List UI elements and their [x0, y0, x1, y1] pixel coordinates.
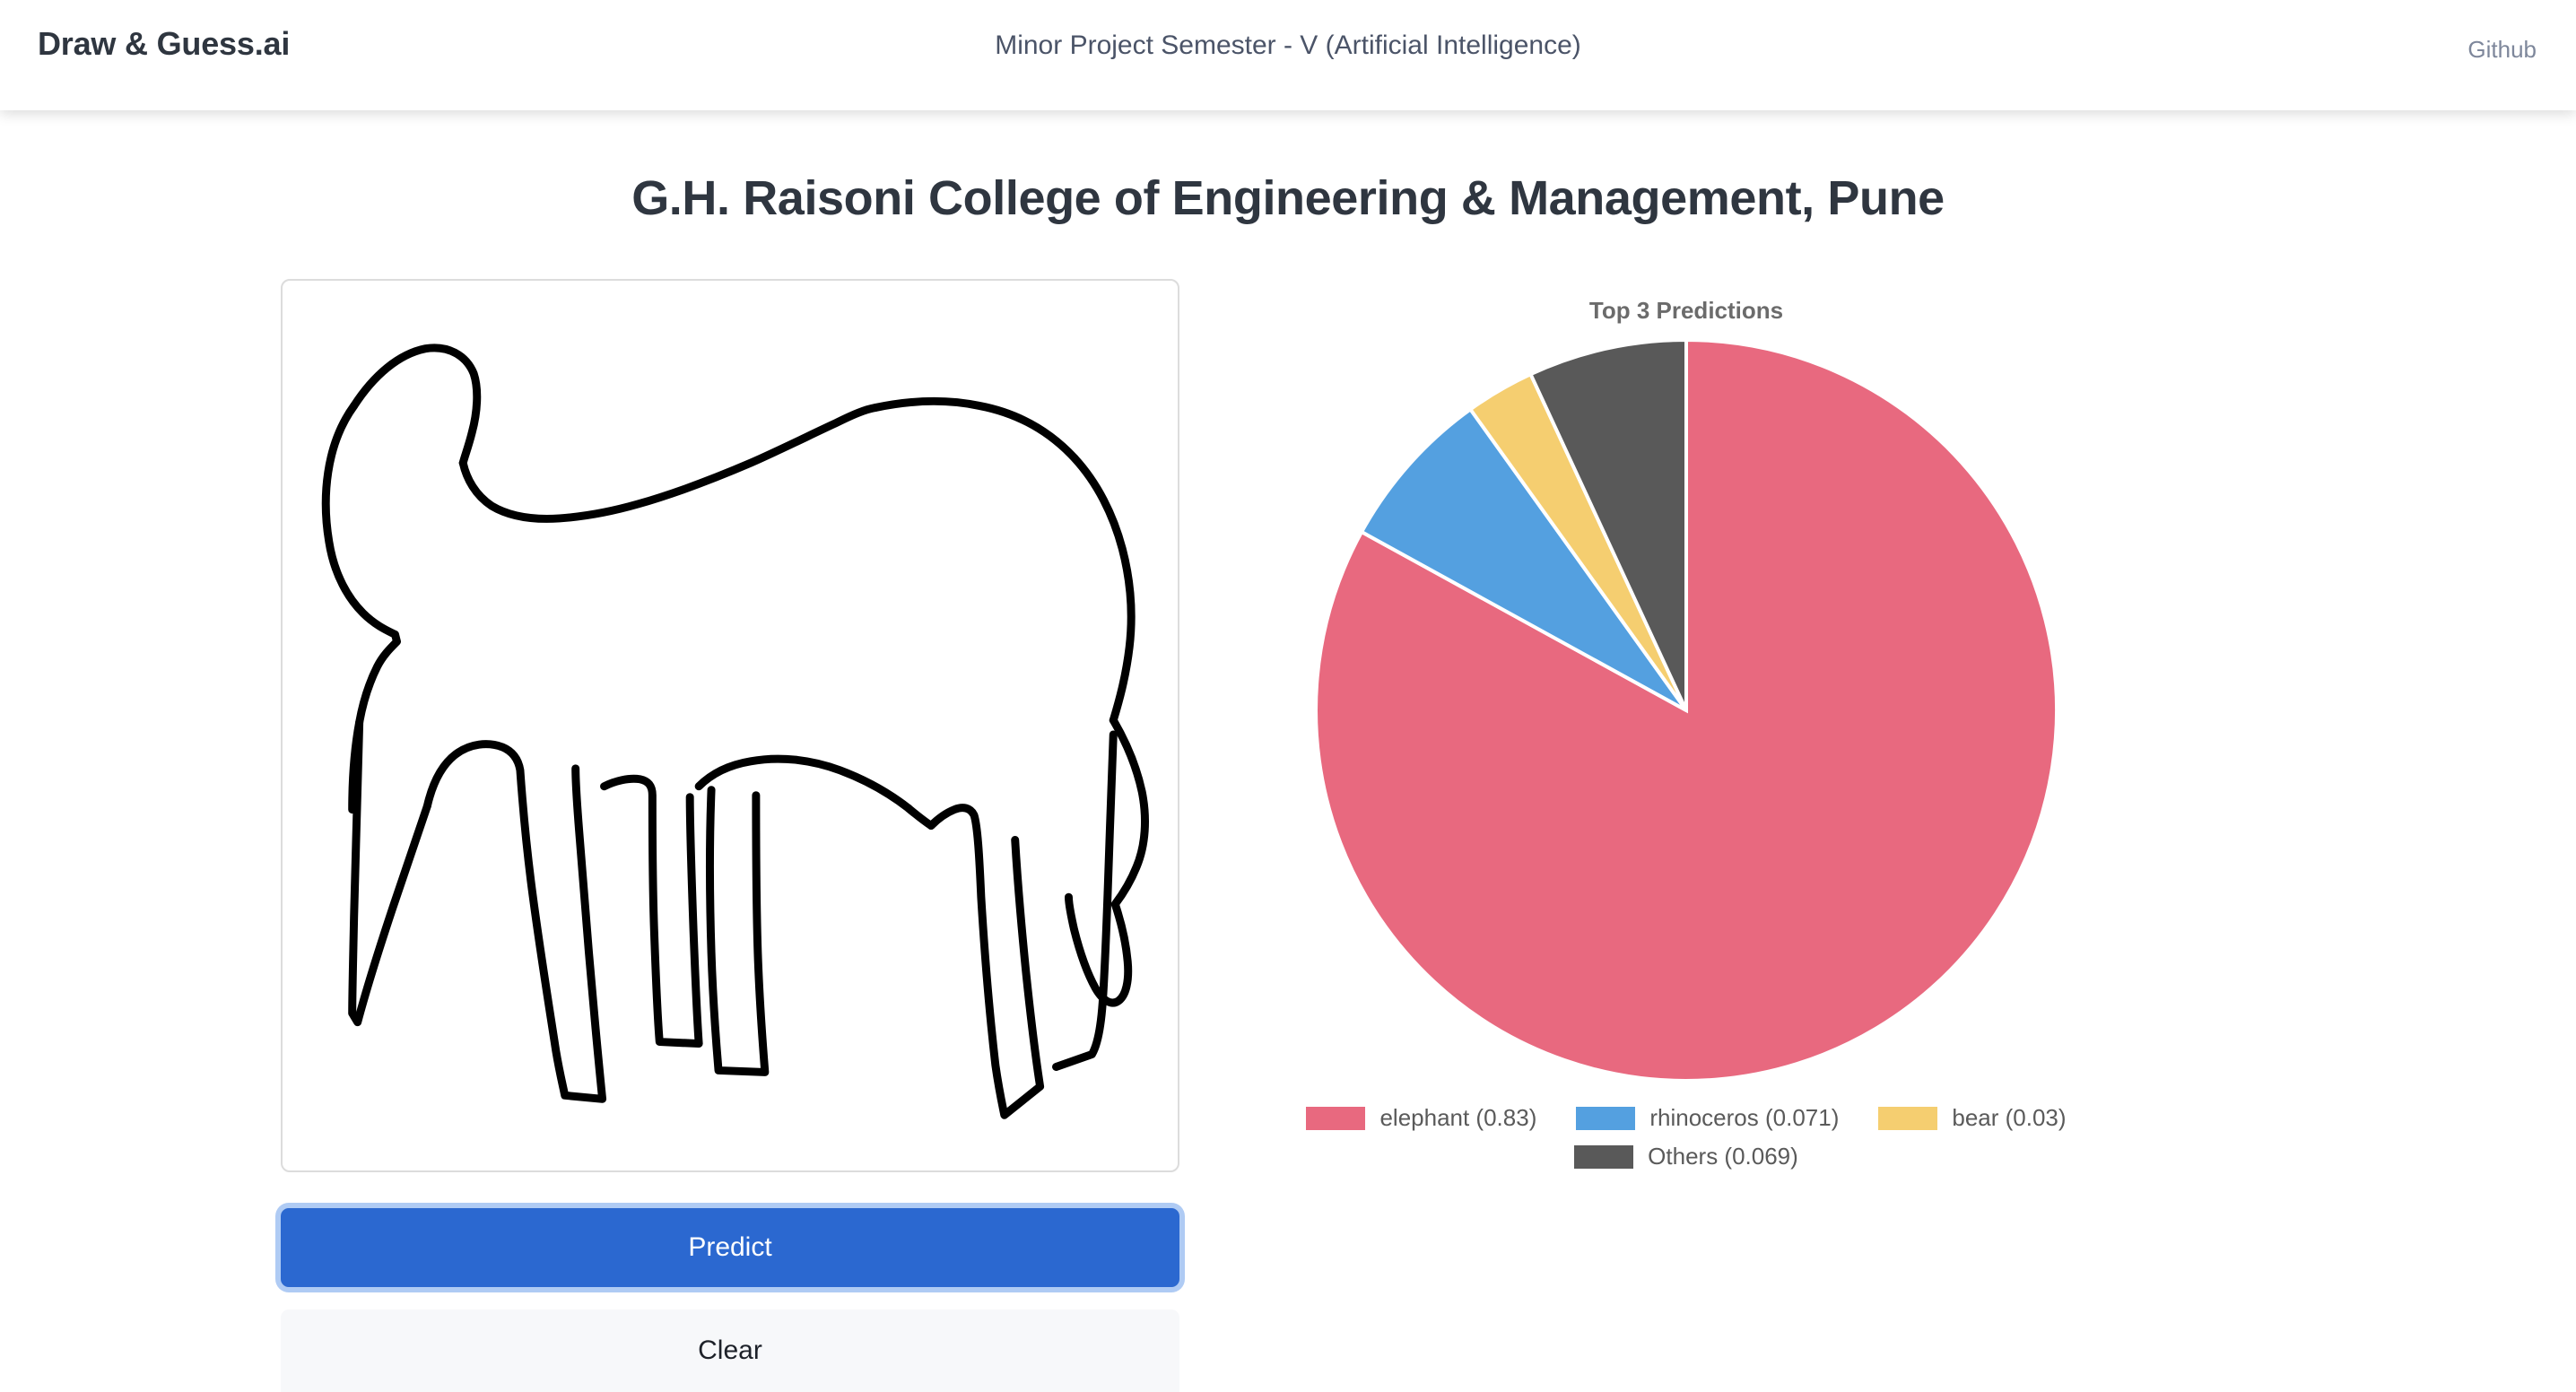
legend-item-rhinoceros[interactable]: rhinoceros (0.071): [1576, 1104, 1839, 1132]
chart-legend: elephant (0.83) rhinoceros (0.071) bear …: [1274, 1104, 2099, 1181]
legend-swatch-others: [1574, 1145, 1633, 1169]
navbar-center-title: Minor Project Semester - V (Artificial I…: [0, 30, 2576, 61]
github-link[interactable]: Github: [2467, 36, 2537, 64]
chart-title: Top 3 Predictions: [1274, 297, 2099, 325]
top-navbar: Draw & Guess.ai Minor Project Semester -…: [0, 0, 2576, 110]
pie-slice-group: [1316, 340, 2057, 1081]
legend-item-others[interactable]: Others (0.069): [1574, 1143, 1798, 1170]
drawing-column: Predict Clear: [281, 279, 1179, 1392]
predictions-pie-chart: [1314, 338, 2058, 1083]
legend-label-others: Others (0.069): [1648, 1143, 1798, 1170]
predict-button[interactable]: Predict: [281, 1208, 1179, 1287]
legend-label-elephant: elephant (0.83): [1379, 1104, 1536, 1132]
predict-button-wrapper: Predict: [281, 1208, 1179, 1287]
prediction-chart-column: Top 3 Predictions elephant (0.83) rhinoc…: [1274, 279, 2099, 1310]
legend-swatch-elephant: [1306, 1107, 1365, 1130]
legend-row-primary: elephant (0.83) rhinoceros (0.071) bear …: [1274, 1104, 2099, 1143]
elephant-sketch: [326, 348, 1144, 1115]
legend-row-secondary: Others (0.069): [1274, 1143, 2099, 1181]
legend-label-rhinoceros: rhinoceros (0.071): [1649, 1104, 1839, 1132]
legend-item-elephant[interactable]: elephant (0.83): [1306, 1104, 1536, 1132]
legend-label-bear: bear (0.03): [1952, 1104, 2066, 1132]
drawing-canvas[interactable]: [281, 279, 1179, 1172]
legend-item-bear[interactable]: bear (0.03): [1878, 1104, 2066, 1132]
page-title: G.H. Raisoni College of Engineering & Ma…: [0, 170, 2576, 226]
legend-swatch-rhinoceros: [1576, 1107, 1635, 1130]
clear-button[interactable]: Clear: [281, 1309, 1179, 1392]
legend-swatch-bear: [1878, 1107, 1937, 1130]
